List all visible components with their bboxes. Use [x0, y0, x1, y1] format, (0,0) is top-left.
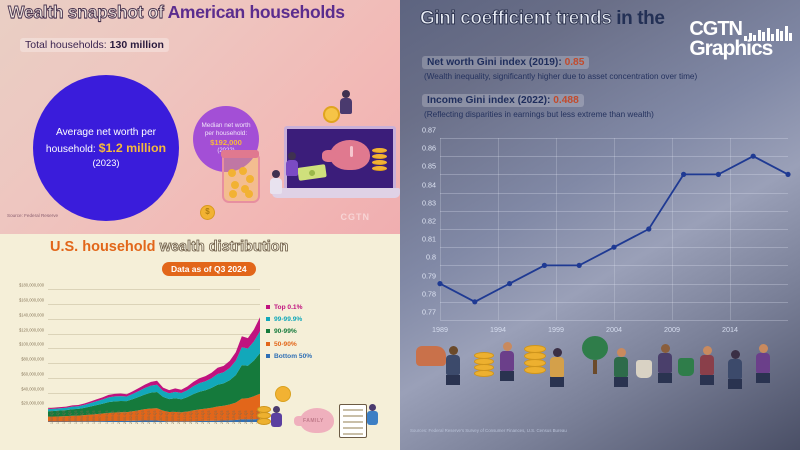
legend-swatch — [266, 342, 270, 346]
grid-line — [440, 320, 788, 321]
x-tick-label: 2007:Q3 — [159, 411, 163, 424]
y-tick-label: $120,000,000 — [19, 327, 44, 332]
left-column: Wealth snapshot of American households T… — [0, 0, 400, 450]
legend-label: 50-90% — [274, 341, 297, 348]
x-tick-label: 2008:Q3 — [165, 411, 169, 424]
gini-data-point[interactable] — [716, 172, 721, 177]
income-gini-label: Income Gini index (2022): — [427, 95, 553, 106]
net-worth-gini-value: 0.85 — [565, 57, 585, 68]
legend-swatch — [266, 305, 270, 309]
family-label: FAMILY — [303, 418, 324, 424]
coin-jar-icon — [222, 155, 260, 203]
x-tick-label: 2019:Q3 — [232, 411, 236, 424]
wealth-snapshot-panel: Wealth snapshot of American households T… — [0, 0, 400, 234]
gini-data-point[interactable] — [542, 263, 547, 268]
person-icon-6 — [700, 346, 714, 385]
snapshot-source-note: Source: Federal Reserve — [7, 213, 58, 218]
loose-coin-icon: $ — [200, 205, 215, 220]
legend-label: 90-99% — [274, 328, 297, 335]
x-tick-label: 2006:Q3 — [153, 411, 157, 424]
legend-swatch — [266, 354, 270, 358]
cgtn-watermark: CGTN — [341, 212, 371, 222]
y-tick-label: 0.87 — [422, 126, 436, 135]
flying-coin-icon — [323, 106, 340, 123]
income-gini-value: 0.488 — [553, 95, 579, 106]
snapshot-title: Wealth snapshot of American households — [8, 2, 345, 23]
gini-line-svg — [440, 138, 788, 320]
distribution-date-badge: Data as of Q3 2024 — [162, 262, 256, 276]
gini-line-chart — [440, 138, 788, 320]
average-net-worth-value: $1.2 million — [99, 141, 166, 155]
wealth-distribution-panel: U.S. household wealth distribution Data … — [0, 234, 400, 450]
y-tick-label: $40,000,000 — [21, 386, 44, 391]
net-worth-gini-note: (Wealth inequality, significantly higher… — [422, 72, 697, 81]
piggy-bank-icon — [330, 140, 370, 170]
distribution-area-chart — [48, 282, 260, 422]
distribution-y-axis-labels: $180,000,000$160,000,000$140,000,000$120… — [0, 278, 46, 422]
x-tick-label: 2002:Q3 — [129, 411, 133, 424]
tree-icon — [582, 336, 608, 374]
legend-item[interactable]: 99-99.9% — [266, 314, 312, 326]
y-tick-label: 0.82 — [422, 217, 436, 226]
person-icon-top — [340, 90, 352, 120]
legend-label: Bottom 50% — [274, 353, 312, 360]
person-icon-7 — [728, 350, 742, 389]
person-icon-2 — [500, 342, 514, 381]
y-tick-label: $60,000,000 — [21, 371, 44, 376]
x-tick-label: 2016:Q3 — [214, 411, 218, 424]
person-icon-dist-left — [271, 406, 282, 432]
x-tick-label: 2014:Q3 — [201, 411, 205, 424]
x-tick-label: 2022:Q3 — [250, 411, 254, 424]
person-icon-1 — [446, 346, 460, 385]
person-icon-4 — [614, 348, 628, 387]
average-net-worth-year: (2023) — [43, 157, 169, 170]
gini-title: Gini coefficient trends in the — [420, 8, 665, 30]
legend-item[interactable]: Top 0.1% — [266, 302, 312, 314]
person-icon-dist-right — [367, 404, 378, 430]
median-net-worth-value: $192,000 — [210, 138, 242, 147]
y-tick-label: $160,000,000 — [19, 298, 44, 303]
gini-line-path — [440, 156, 788, 302]
gini-data-point[interactable] — [437, 281, 442, 286]
horse-icon — [416, 346, 446, 366]
x-tick-label: 2000:Q3 — [117, 411, 121, 424]
x-tick-label: 2021:Q3 — [244, 411, 248, 424]
x-tick-label: 1990:Q3 — [56, 411, 60, 424]
y-tick-label: 0.81 — [422, 235, 436, 244]
distribution-x-axis-labels: 1989:Q31990:Q31991:Q31992:Q31993:Q31994:… — [48, 424, 260, 450]
legend-item[interactable]: 50-90% — [266, 339, 312, 351]
gini-panel: Gini coefficient trends in the CGTN Grap… — [400, 0, 800, 450]
total-households-value: 130 million — [110, 39, 164, 51]
coin-stack-icon — [372, 148, 387, 170]
gini-data-point[interactable] — [751, 154, 756, 159]
x-tick-label: 2009:Q3 — [171, 411, 175, 424]
legend-label: Top 0.1% — [274, 304, 302, 311]
x-tick-label: 2013:Q3 — [195, 411, 199, 424]
gini-title-part1: Gini coefficient trends — [420, 8, 616, 29]
x-tick-label: 2011:Q3 — [183, 411, 187, 424]
total-households-label: Total households: — [25, 39, 110, 51]
gini-y-axis-labels: 0.870.860.850.840.830.820.810.80.790.780… — [406, 130, 436, 320]
income-gini-stat: Income Gini index (2022): 0.488 (Reflect… — [422, 90, 654, 119]
x-tick-label: 1991:Q3 — [62, 411, 66, 424]
x-tick-label: 1997:Q3 — [98, 411, 102, 424]
income-gini-note: (Reflecting disparities in earnings but … — [422, 110, 654, 119]
total-households-stat: Total households: 130 million — [20, 38, 169, 52]
legend-item[interactable]: 90-99% — [266, 326, 312, 338]
y-tick-label: 0.83 — [422, 198, 436, 207]
x-tick-label: 2015:Q3 — [207, 411, 211, 424]
family-finance-illustration: FAMILY — [255, 374, 400, 450]
y-tick-label: 0.77 — [422, 308, 436, 317]
median-net-worth-label: Median net worth per household: — [201, 122, 250, 137]
x-tick-label: 1994:Q3 — [80, 411, 84, 424]
y-tick-label: $20,000,000 — [21, 401, 44, 406]
gini-source-note: Sources: Federal Reserve's Survey of Con… — [410, 428, 567, 433]
y-tick-label: $140,000,000 — [19, 312, 44, 317]
gini-data-point[interactable] — [785, 172, 790, 177]
snapshot-title-part2: American households — [168, 2, 345, 22]
legend-label: 99-99.9% — [274, 316, 302, 323]
y-tick-label: 0.85 — [422, 162, 436, 171]
y-tick-label: 0.86 — [422, 144, 436, 153]
money-bag-icon — [636, 360, 652, 378]
net-worth-gini-label: Net worth Gini index (2019): — [427, 57, 565, 68]
x-tick-label: 2018:Q3 — [226, 411, 230, 424]
y-tick-label: $80,000,000 — [21, 357, 44, 362]
piggy-bank-illustration — [268, 70, 400, 234]
y-tick-label: 0.78 — [422, 289, 436, 298]
x-tick-label: 2012:Q3 — [189, 411, 193, 424]
gini-title-part2: in the — [616, 8, 664, 29]
person-icon-5 — [658, 344, 672, 383]
legend-swatch — [266, 329, 270, 333]
x-tick-label: 1999:Q3 — [111, 411, 115, 424]
laptop-base-icon — [272, 188, 400, 198]
x-tick-label: 2001:Q3 — [123, 411, 127, 424]
snapshot-title-part1: Wealth snapshot of — [8, 2, 168, 22]
gini-data-point[interactable] — [507, 281, 512, 286]
x-tick-label: 1998:Q3 — [105, 411, 109, 424]
x-tick-label: 1996:Q3 — [92, 411, 96, 424]
gini-data-point[interactable] — [681, 172, 686, 177]
gini-data-point[interactable] — [472, 299, 477, 304]
x-tick-label: 2004:Q3 — [141, 411, 145, 424]
distribution-title-part1: U.S. household — [50, 239, 160, 255]
person-icon-8 — [756, 344, 770, 383]
distribution-title: U.S. household wealth distribution — [50, 239, 288, 255]
gini-data-point[interactable] — [611, 245, 616, 250]
y-tick-label: $100,000,000 — [19, 342, 44, 347]
x-tick-label: 1992:Q3 — [68, 411, 72, 424]
distribution-legend: Top 0.1%99-99.9%90-99%50-90%Bottom 50% — [266, 302, 312, 363]
x-tick-label: 1989:Q3 — [50, 411, 54, 424]
y-tick-label: 0.8 — [426, 253, 436, 262]
person-icon-depositor — [286, 152, 298, 182]
y-tick-label: $180,000,000 — [19, 283, 44, 288]
people-illustration-strip — [400, 330, 800, 435]
person-icon-left — [270, 170, 282, 200]
infographic-screenshot: Wealth snapshot of American households T… — [0, 0, 800, 450]
x-tick-label: 2003:Q3 — [135, 411, 139, 424]
area-chart-svg — [48, 282, 260, 422]
person-icon-3 — [550, 348, 564, 387]
x-tick-label: 2005:Q3 — [147, 411, 151, 424]
briefcase-icon — [678, 358, 694, 376]
y-tick-label: 0.79 — [422, 271, 436, 280]
y-tick-label: 0.84 — [422, 180, 436, 189]
x-tick-label: 1995:Q3 — [86, 411, 90, 424]
checklist-icon — [339, 404, 367, 438]
x-tick-label: 2020:Q3 — [238, 411, 242, 424]
net-worth-gini-stat: Net worth Gini index (2019): 0.85 (Wealt… — [422, 52, 697, 81]
x-tick-label: 1993:Q3 — [74, 411, 78, 424]
cgtn-graphics-logo: CGTN Graphics — [689, 18, 792, 61]
gini-data-point[interactable] — [646, 226, 651, 231]
legend-item[interactable]: Bottom 50% — [266, 351, 312, 363]
legend-swatch — [266, 317, 270, 321]
gini-data-point[interactable] — [577, 263, 582, 268]
x-tick-label: 2017:Q3 — [220, 411, 224, 424]
distribution-title-part2: wealth distribution — [160, 239, 289, 255]
average-net-worth-bubble: Average net worth per household: $1.2 mi… — [33, 75, 179, 221]
x-tick-label: 2010:Q3 — [177, 411, 181, 424]
